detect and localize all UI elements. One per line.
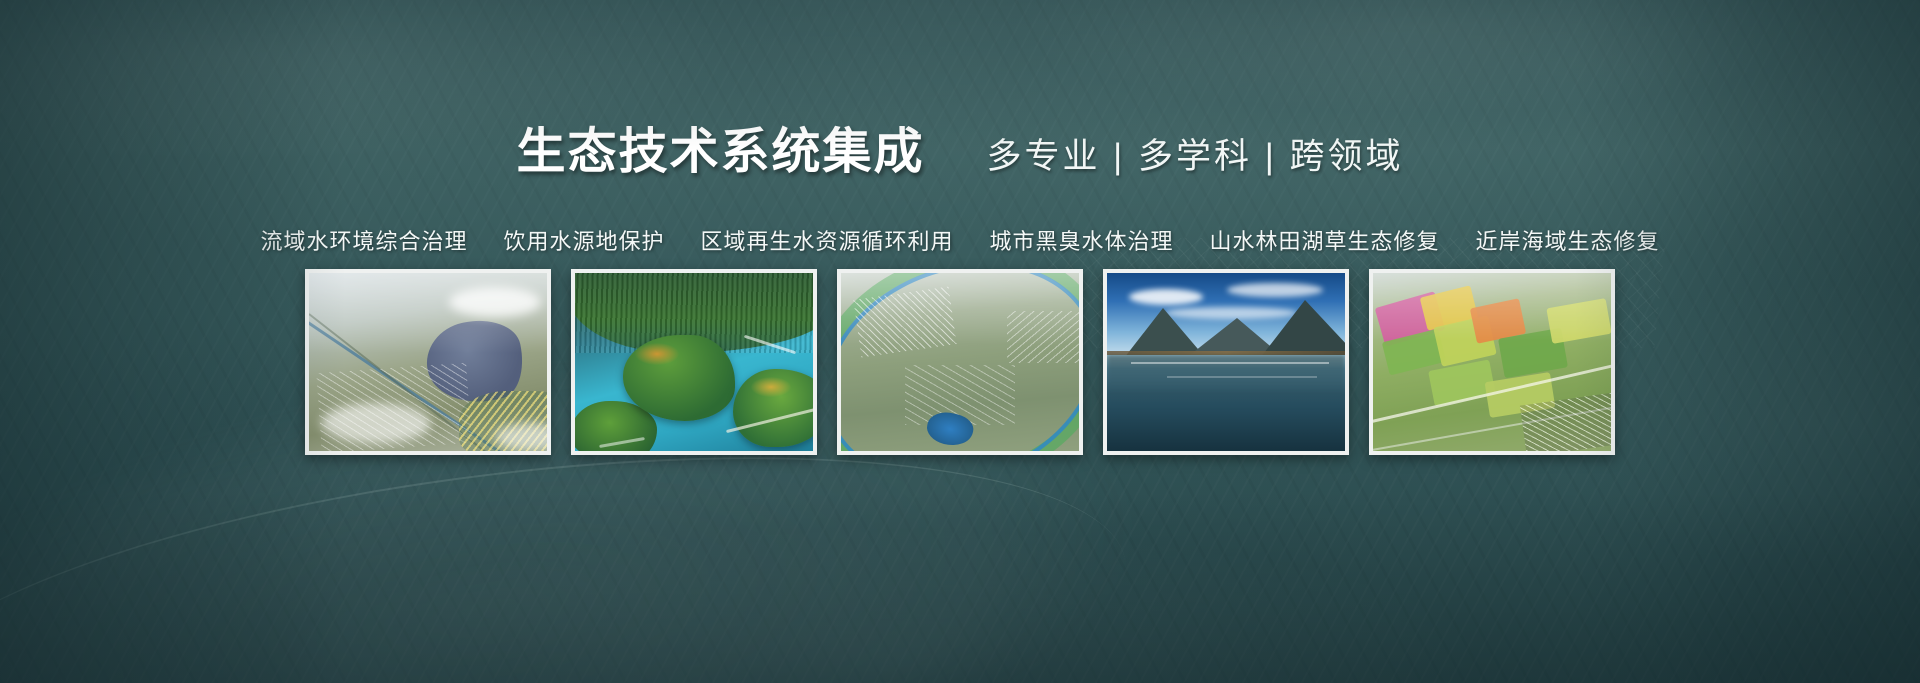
hero-banner: 生态技术系统集成 多专业 | 多学科 | 跨领域 流域水环境综合治理 饮用水源地…: [0, 0, 1920, 683]
background-vignette: [0, 0, 1920, 683]
